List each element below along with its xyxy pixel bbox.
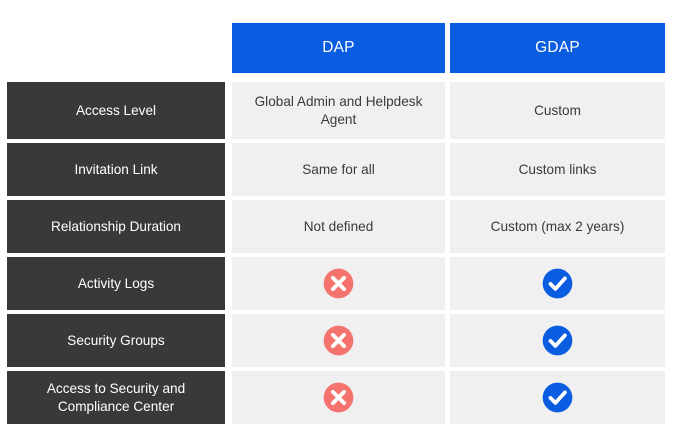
cell-value-text: Not defined bbox=[304, 218, 374, 236]
cell-value-text: Same for all bbox=[302, 161, 375, 179]
check-icon bbox=[458, 259, 657, 308]
table-cell-dap bbox=[232, 257, 445, 310]
table-cell-dap: Global Admin and Helpdesk Agent bbox=[232, 82, 445, 139]
cross-icon bbox=[240, 259, 437, 308]
table-cell-gdap: Custom bbox=[450, 82, 665, 139]
table-cell-gdap bbox=[450, 314, 665, 367]
table-cell-dap: Not defined bbox=[232, 200, 445, 253]
table-cell-dap bbox=[232, 314, 445, 367]
row-label-text: Activity Logs bbox=[78, 275, 154, 292]
cell-value-text: Custom (max 2 years) bbox=[491, 218, 625, 236]
comparison-table-grid: DAP GDAP Access Level Global Admin and H… bbox=[0, 0, 681, 443]
check-icon bbox=[458, 373, 657, 422]
table-cell-gdap bbox=[450, 257, 665, 310]
column-header-gdap: GDAP bbox=[450, 23, 665, 73]
table-row-label: Relationship Duration bbox=[7, 200, 225, 253]
table-row-label: Access Level bbox=[7, 82, 225, 139]
column-header-dap: DAP bbox=[232, 23, 445, 73]
table-cell-dap bbox=[232, 371, 445, 424]
row-label-text: Access to Security and Compliance Center bbox=[15, 380, 217, 415]
check-icon bbox=[458, 316, 657, 365]
column-header-gdap-label: GDAP bbox=[535, 39, 580, 57]
cross-icon bbox=[240, 316, 437, 365]
row-label-text: Invitation Link bbox=[74, 161, 157, 178]
cross-icon bbox=[240, 373, 437, 422]
table-row-label: Security Groups bbox=[7, 314, 225, 367]
row-label-text: Relationship Duration bbox=[51, 218, 181, 235]
cell-value-text: Global Admin and Helpdesk Agent bbox=[240, 93, 437, 129]
table-row-label: Access to Security and Compliance Center bbox=[7, 371, 225, 424]
cell-value-text: Custom bbox=[534, 102, 581, 120]
table-cell-gdap bbox=[450, 371, 665, 424]
row-label-text: Access Level bbox=[76, 102, 156, 119]
table-row-label: Invitation Link bbox=[7, 143, 225, 196]
row-label-text: Security Groups bbox=[67, 332, 164, 349]
table-cell-dap: Same for all bbox=[232, 143, 445, 196]
comparison-table: DAP GDAP Access Level Global Admin and H… bbox=[0, 0, 681, 443]
table-cell-gdap: Custom links bbox=[450, 143, 665, 196]
column-header-dap-label: DAP bbox=[322, 39, 354, 57]
header-corner-cell bbox=[7, 23, 225, 73]
table-row-label: Activity Logs bbox=[7, 257, 225, 310]
cell-value-text: Custom links bbox=[519, 161, 597, 179]
table-cell-gdap: Custom (max 2 years) bbox=[450, 200, 665, 253]
